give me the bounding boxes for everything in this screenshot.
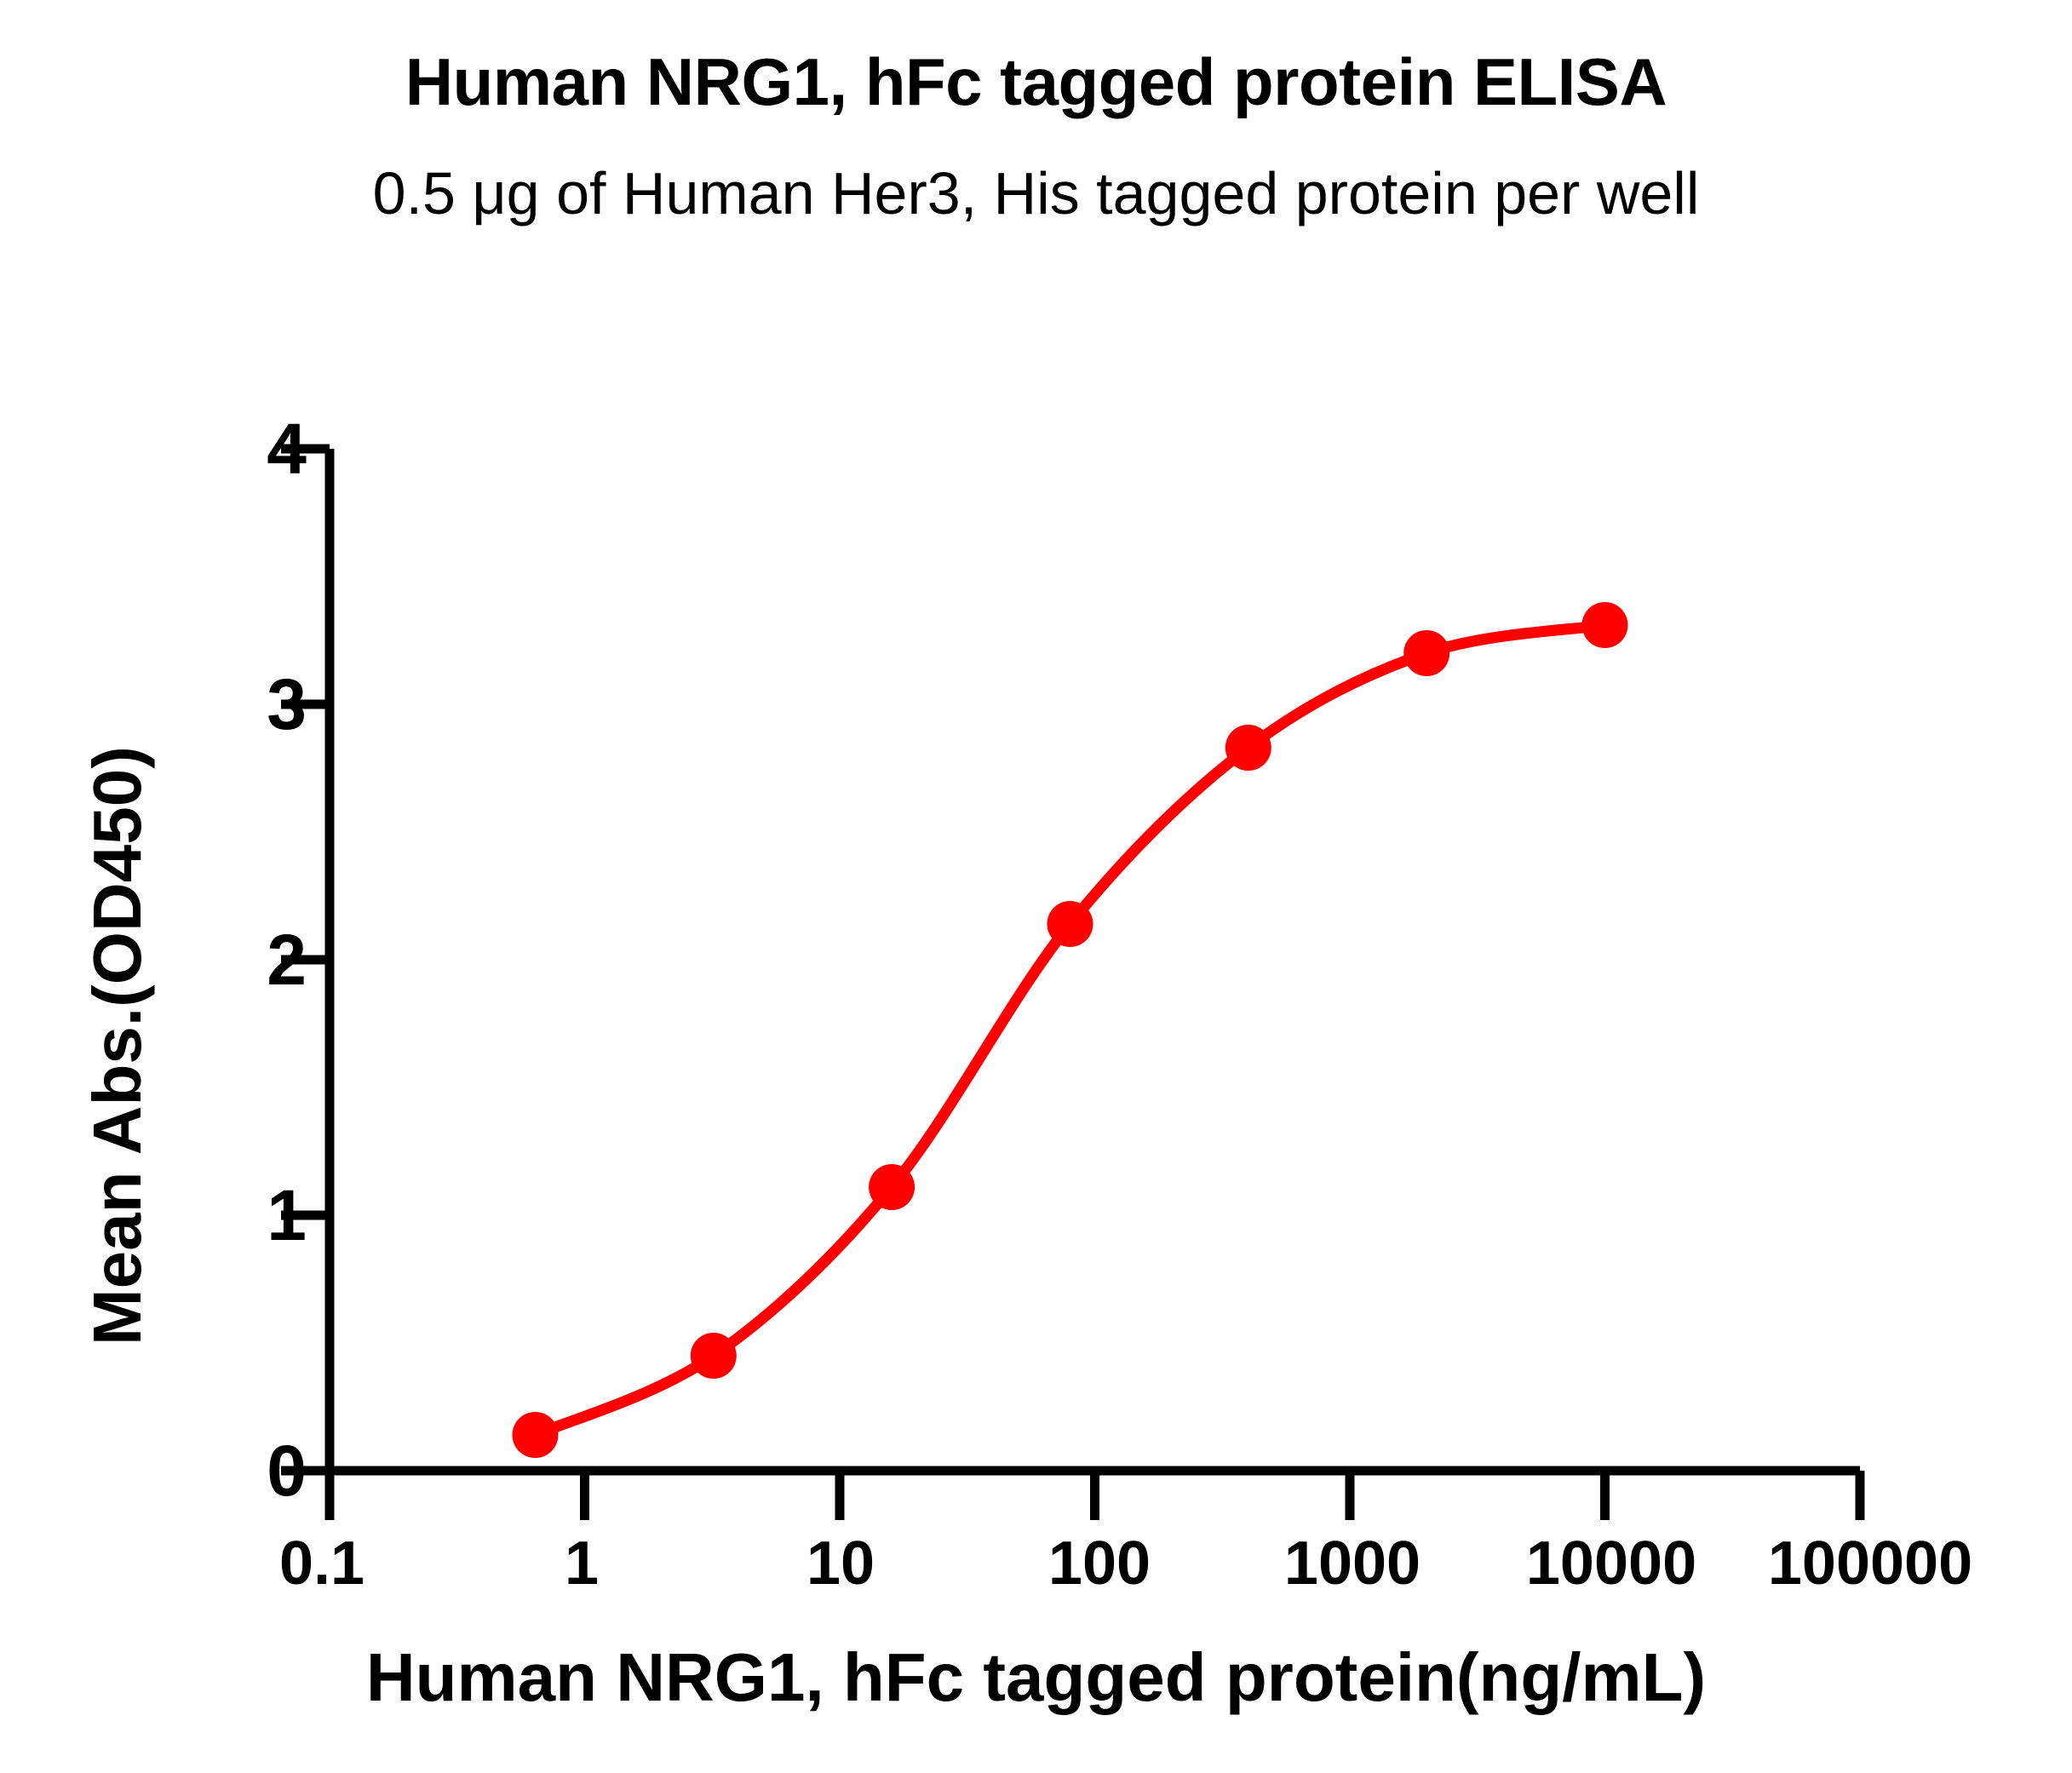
- series-markers: [513, 602, 1628, 1458]
- data-point-marker: [1047, 901, 1093, 947]
- data-point-marker: [1225, 725, 1271, 771]
- data-point-marker: [513, 1412, 559, 1458]
- plot-area: [0, 0, 2072, 1773]
- y-tick-marks: [281, 449, 330, 1471]
- series-line-curve: [536, 625, 1605, 1435]
- data-point-marker: [1403, 630, 1449, 676]
- axes: [307, 449, 1860, 1499]
- data-point-marker: [1582, 602, 1628, 648]
- data-point-marker: [869, 1164, 915, 1210]
- x-tick-marks: [330, 1471, 1860, 1520]
- elisa-chart-figure: Human NRG1, hFc tagged protein ELISA 0.5…: [0, 0, 2072, 1773]
- data-point-marker: [691, 1333, 737, 1379]
